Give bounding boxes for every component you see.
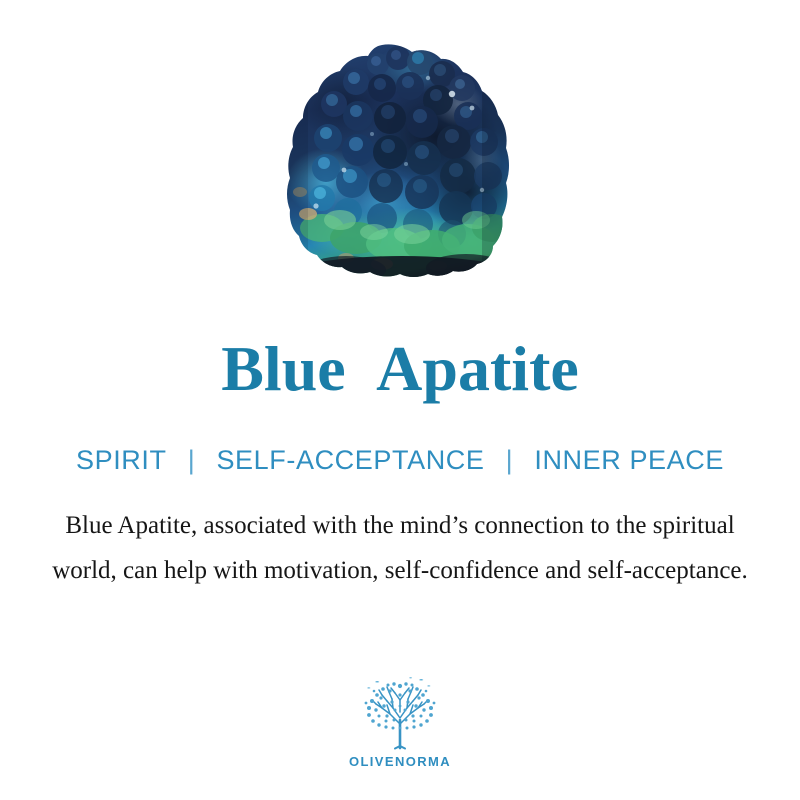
keyword-self-acceptance: SELF-ACCEPTANCE [216,443,484,477]
stone-body [286,42,518,282]
page-title: Blue Apatite [0,333,800,405]
blue-apatite-stone-image [286,42,518,282]
brand-logo: OLIVENORMA [0,676,800,769]
keyword-spirit: SPIRIT [76,443,167,477]
stone-illustration [286,42,518,282]
keyword-list: SPIRIT | SELF-ACCEPTANCE | INNER PEACE [0,443,800,477]
product-info-card: Blue Apatite SPIRIT | SELF-ACCEPTANCE | … [0,0,800,800]
stone-image-area [0,0,800,310]
brand-name: OLIVENORMA [0,754,800,769]
tree-icon [357,676,443,750]
keyword-inner-peace: INNER PEACE [534,443,724,477]
product-description: Blue Apatite, associated with the mind’s… [40,503,760,593]
keyword-separator: | [493,443,527,477]
keyword-separator: | [175,443,209,477]
